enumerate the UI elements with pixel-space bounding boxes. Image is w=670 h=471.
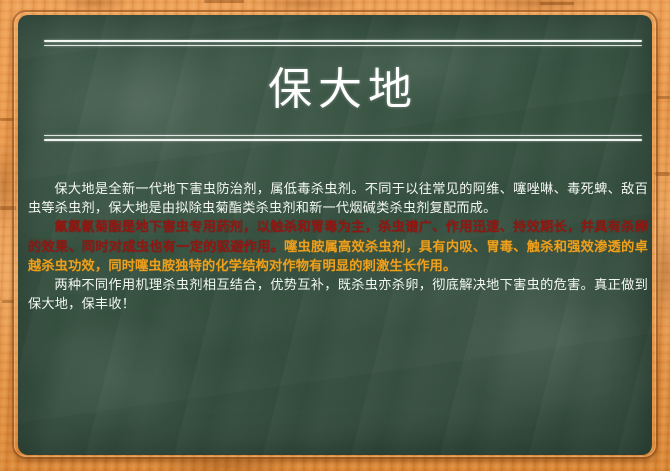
- wood-blotch: [250, 0, 360, 12]
- chalk-smudge: [28, 315, 198, 435]
- paragraph-highlight: 氟氯氰菊酯是地下害虫专用药剂，以触杀和胃毒为主，杀虫谱广、作用迅速、持效期长，并…: [28, 218, 648, 276]
- wood-nick: [0, 118, 14, 121]
- title-rule-bottom-outer: [44, 139, 642, 141]
- wood-blotch: [60, 0, 130, 12]
- wood-nick: [655, 172, 670, 176]
- wood-nick: [0, 206, 16, 210]
- slide-canvas: 保大地 保大地是全新一代地下害虫防治剂，属低毒杀虫剂。不同于以往常见的阿维、噻唑…: [0, 0, 670, 471]
- title-rule-bottom-inner: [44, 135, 642, 136]
- body-copy: 保大地是全新一代地下害虫防治剂，属低毒杀虫剂。不同于以往常见的阿维、噻唑啉、毒死…: [28, 180, 648, 314]
- paragraph-conclusion: 两种不同作用机理杀虫剂相互结合，优势互补，既杀虫亦杀卵，彻底解决地下害虫的危害。…: [28, 276, 648, 314]
- wood-nick: [540, 2, 574, 5]
- wood-nick: [2, 300, 14, 303]
- wood-blotch: [470, 0, 600, 12]
- title-rule-top-inner: [44, 45, 642, 46]
- paragraph-intro: 保大地是全新一代地下害虫防治剂，属低毒杀虫剂。不同于以往常见的阿维、噻唑啉、毒死…: [28, 180, 648, 218]
- wood-nick: [204, 0, 244, 3]
- title-block: 保大地: [44, 40, 642, 141]
- wood-blotch: [150, 458, 300, 471]
- wood-blotch: [652, 210, 670, 330]
- wood-nick: [656, 96, 670, 99]
- wood-blotch: [0, 140, 18, 230]
- page-title: 保大地: [44, 46, 642, 135]
